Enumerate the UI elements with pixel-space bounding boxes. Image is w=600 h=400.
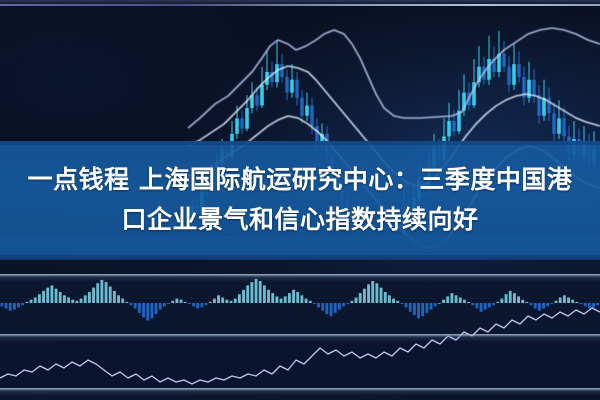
top-separator-rule <box>0 4 600 6</box>
screenshot-root: 一点钱程 上海国际航运研究中心：三季度中国港 口企业景气和信心指数持续向好 <box>0 0 600 400</box>
panel-separator-1 <box>0 274 600 277</box>
banner-title-block: 一点钱程 上海国际航运研究中心：三季度中国港 口企业景气和信心指数持续向好 <box>0 141 600 258</box>
page-title-line-1: 一点钱程 上海国际航运研究中心：三季度中国港 <box>28 160 573 200</box>
panel-separator-3 <box>0 388 600 391</box>
trend-panel-background <box>0 338 600 390</box>
page-title-line-2: 口企业景气和信心指数持续向好 <box>121 200 478 240</box>
panel-separator-2 <box>0 334 600 337</box>
